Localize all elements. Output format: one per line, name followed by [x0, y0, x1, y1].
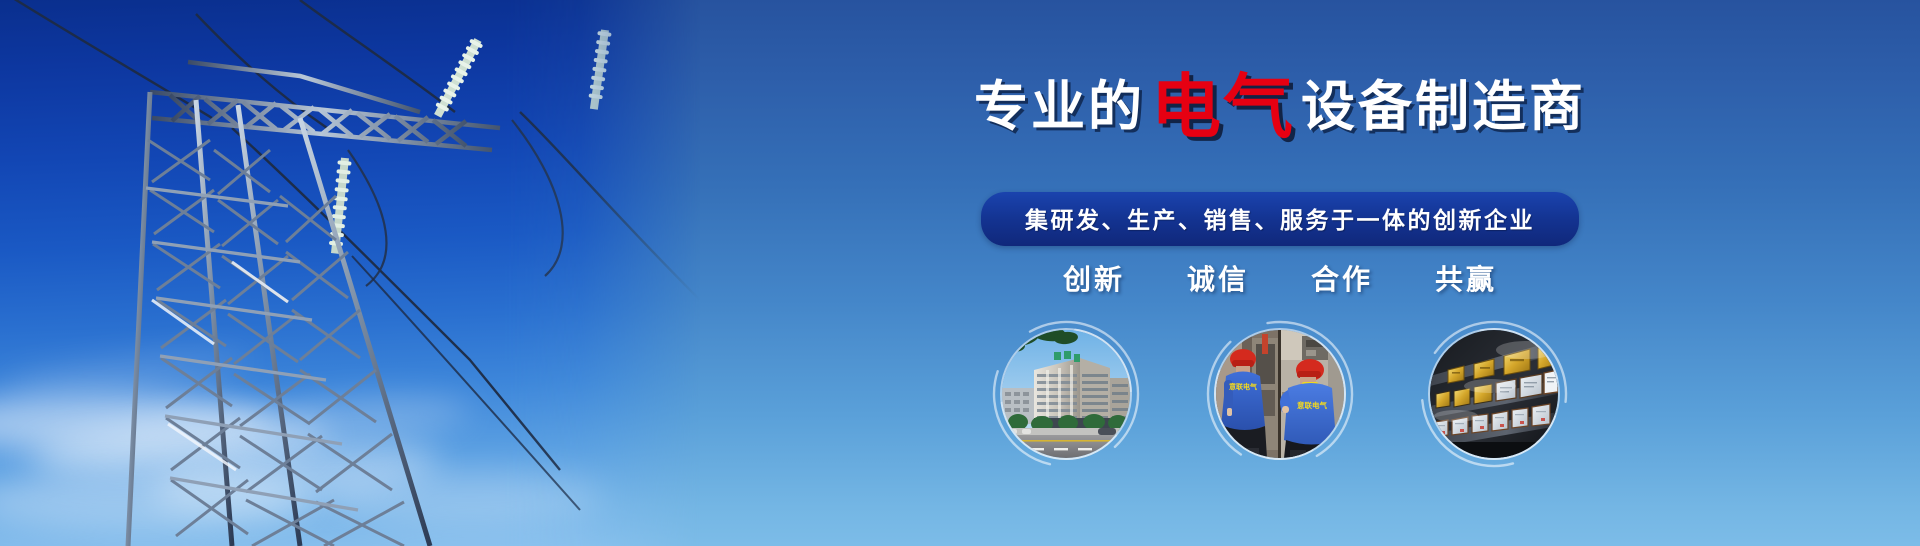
subtitle-pill-container: 集研发、生产、销售、服务于一体的创新企业	[640, 192, 1920, 246]
keyword-innovation: 创新	[1063, 258, 1125, 298]
pylon-icon	[0, 0, 700, 546]
hero-banner: 专业的电气设备制造商 集研发、生产、销售、服务于一体的创新企业 创新 诚信 合作…	[0, 0, 1920, 546]
photo-circle-office-building	[990, 318, 1142, 470]
transmission-tower-photo	[0, 0, 700, 546]
banner-headline: 专业的电气设备制造商	[640, 72, 1920, 142]
circle-image-workers: 意联电气	[1216, 330, 1344, 458]
circle-image-office-building	[1002, 330, 1130, 458]
svg-text:意联电气: 意联电气	[1229, 382, 1257, 391]
photo-circle-row: 意联电气	[640, 318, 1920, 470]
headline-part-before: 专业的	[974, 75, 1145, 138]
headline-part-after: 设备制造商	[1301, 75, 1586, 138]
banner-content: 专业的电气设备制造商 集研发、生产、销售、服务于一体的创新企业 创新 诚信 合作…	[640, 0, 1920, 546]
keyword-cooperation: 合作	[1311, 258, 1373, 298]
subtitle-pill: 集研发、生产、销售、服务于一体的创新企业	[981, 192, 1579, 246]
keyword-winwin: 共赢	[1435, 258, 1497, 298]
circle-image-certificate-wall	[1430, 330, 1558, 458]
photo-circle-certificate-wall	[1418, 318, 1570, 470]
photo-circle-workers: 意联电气	[1204, 318, 1356, 470]
svg-text:意联电气: 意联电气	[1297, 400, 1327, 410]
headline-highlight: 电气	[1145, 66, 1301, 148]
keyword-integrity: 诚信	[1187, 258, 1249, 298]
insulator-string	[328, 29, 612, 254]
keyword-row: 创新 诚信 合作 共赢	[640, 258, 1920, 298]
subtitle-text: 集研发、生产、销售、服务于一体的创新企业	[1025, 208, 1535, 234]
